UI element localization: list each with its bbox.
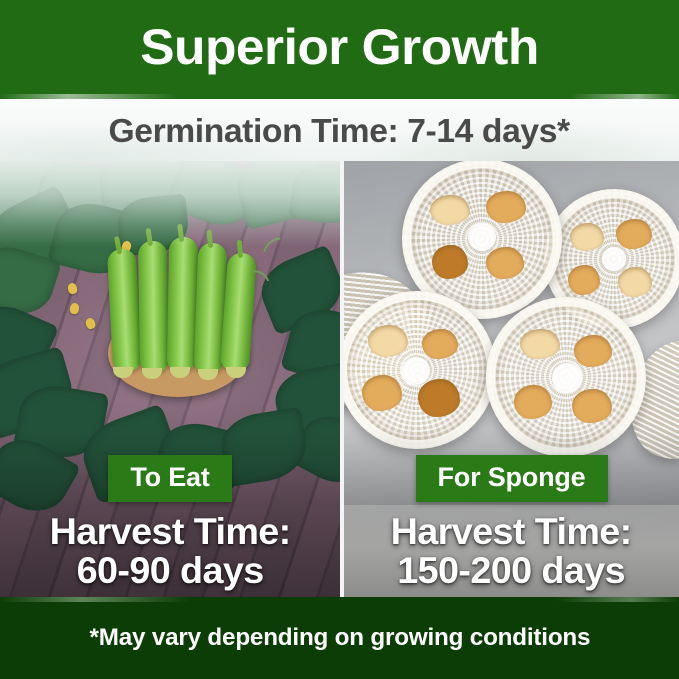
footer-banner: *May vary depending on growing condition…: [0, 597, 679, 679]
panel-for-sponge: For Sponge Harvest Time: 150-200 days: [344, 161, 679, 597]
badge-to-eat[interactable]: To Eat: [108, 455, 231, 502]
disclaimer-text: *May vary depending on growing condition…: [89, 626, 590, 650]
loofah-rim: [486, 297, 646, 457]
header-banner: Superior Growth: [0, 0, 679, 99]
photo-mist-haze: [0, 161, 340, 247]
loofah-sponge: [486, 297, 646, 457]
infographic-poster: Superior Growth Germination Time: 7-14 d…: [0, 0, 679, 679]
harvest-time-sponge: Harvest Time: 150-200 days: [391, 513, 632, 591]
panel-label-group-eat: To Eat Harvest Time: 60-90 days: [0, 455, 340, 597]
loofah-sponge: [344, 291, 496, 449]
loofah-rim: [344, 291, 496, 449]
panel-to-eat: To Eat Harvest Time: 60-90 days: [0, 161, 340, 597]
comparison-panels: To Eat Harvest Time: 60-90 days: [0, 161, 679, 597]
germination-time-text: Germination Time: 7-14 days*: [109, 114, 570, 147]
luffa-gourd: [138, 241, 169, 372]
germination-band: Germination Time: 7-14 days*: [0, 99, 679, 161]
harvest-time-eat: Harvest Time: 60-90 days: [50, 513, 291, 591]
footer-brush-edge: [0, 597, 679, 602]
panel-label-group-sponge: For Sponge Harvest Time: 150-200 days: [344, 455, 679, 597]
badge-for-sponge[interactable]: For Sponge: [416, 455, 608, 502]
page-title: Superior Growth: [140, 22, 539, 78]
